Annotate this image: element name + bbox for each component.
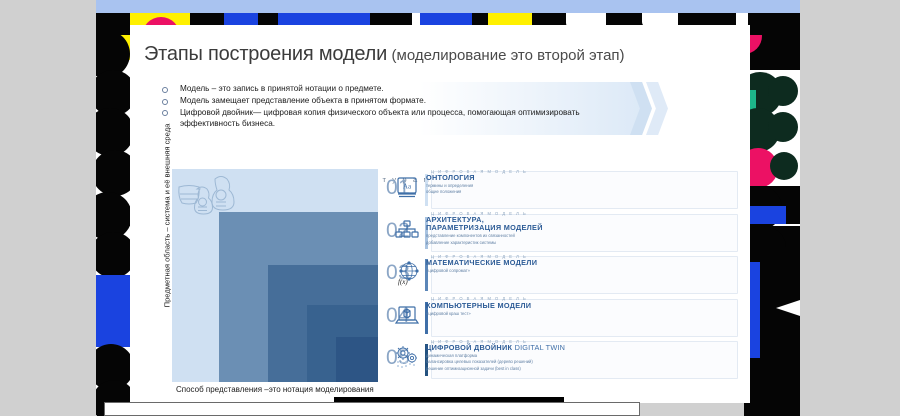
row-text: МАТЕМАТИЧЕСКИЕ МОДЕЛИ «цифровой сопромат… bbox=[426, 258, 734, 273]
row-title: ЦИФРОВОЙ ДВОЙНИК DIGITAL TWIN bbox=[426, 343, 734, 352]
decorative-pattern-left bbox=[96, 0, 130, 416]
nested-squares-figure bbox=[172, 169, 378, 382]
model-level-row-03[interactable]: 03 Ц И Ф Р О В А Я М О Д Е Л Ь f(x) bbox=[386, 254, 738, 297]
figure-caption: Способ представления –это нотация модели… bbox=[176, 385, 374, 394]
row-subtitle-2: общие положения bbox=[426, 189, 734, 194]
row-title-en: DIGITAL TWIN bbox=[515, 343, 566, 352]
row-title-line2: ПАРАМЕТРИЗАЦИЯ МОДЕЛЕЙ bbox=[426, 224, 734, 232]
list-item: Цифровой двойник— цифровая копия физичес… bbox=[156, 107, 606, 130]
row-text: АРХИТЕКТУРА, ПАРАМЕТРИЗАЦИЯ МОДЕЛЕЙ пред… bbox=[426, 216, 734, 246]
model-level-row-05[interactable]: 05 Ц И Ф Р О В А Я М О Д Е Л Ь bbox=[386, 339, 738, 382]
row-title: МАТЕМАТИЧЕСКИЕ МОДЕЛИ bbox=[426, 258, 734, 267]
screen: Этапы построения модели (моделирование э… bbox=[0, 0, 900, 416]
row-title: КОМПЬЮТЕРНЫЕ МОДЕЛИ bbox=[426, 301, 734, 310]
row-subtitle-1: «цифровой сопромат» bbox=[426, 268, 734, 273]
bullet-list: Модель – это запись в принятой нотации о… bbox=[156, 83, 606, 130]
model-level-row-01[interactable]: 01 Ц И Ф Р О В А Я М О Д Е Л Ь Aa ОНТОЛО… bbox=[386, 169, 738, 212]
row-title: ОНТОЛОГИЯ bbox=[426, 173, 734, 182]
bottom-panel bbox=[104, 402, 640, 416]
book-aa-icon: Aa bbox=[394, 175, 420, 201]
list-item: Модель – это запись в принятой нотации о… bbox=[156, 83, 606, 94]
top-ribbon bbox=[96, 0, 800, 13]
svg-text:f(x): f(x) bbox=[398, 278, 408, 286]
row-subtitle-1: динамическая платформа bbox=[426, 353, 734, 358]
vertical-axis-label: Предметная область – система и её внешня… bbox=[163, 100, 172, 332]
slide-canvas: Этапы построения модели (моделирование э… bbox=[130, 25, 750, 403]
model-level-row-04[interactable]: 04 Ц И Ф Р О В А Я М О Д Е Л Ь КОМПЬЮТЕР… bbox=[386, 297, 738, 340]
model-level-row-02[interactable]: 02 Ц И Ф Р О В А Я М О Д Е Л Ь АРХИТЕКТУ… bbox=[386, 212, 738, 255]
row-subtitle-2: балансировка целевых показателей (дерево… bbox=[426, 359, 734, 364]
title-main: Этапы построения модели bbox=[144, 43, 387, 65]
model-levels-list: 01 Ц И Ф Р О В А Я М О Д Е Л Ь Aa ОНТОЛО… bbox=[386, 169, 738, 382]
decorative-pattern-right bbox=[744, 0, 800, 416]
row-subtitle-3: решение оптимизационной задачи (best in … bbox=[426, 366, 734, 371]
list-item: Модель замещает представление объекта в … bbox=[156, 95, 606, 106]
slide-title: Этапы построения модели (моделирование э… bbox=[144, 43, 625, 66]
title-subtitle: (моделирование это второй этап) bbox=[392, 47, 625, 64]
laptop-cube-icon bbox=[394, 303, 420, 329]
row-subtitle-1: термины и определения bbox=[426, 183, 734, 188]
row-subtitle-1: представление компонентов их связанносте… bbox=[426, 233, 734, 238]
row-subtitle-1: «цифровой краш тест» bbox=[426, 311, 734, 316]
row-title-ru: ЦИФРОВОЙ ДВОЙНИК bbox=[426, 343, 512, 352]
row-text: ЦИФРОВОЙ ДВОЙНИК DIGITAL TWIN динамическ… bbox=[426, 343, 734, 371]
nested-square-4 bbox=[336, 337, 378, 382]
hierarchy-tree-icon bbox=[394, 218, 420, 244]
row-text: ОНТОЛОГИЯ термины и определения общие по… bbox=[426, 173, 734, 195]
row-text: КОМПЬЮТЕРНЫЕ МОДЕЛИ «цифровой краш тест» bbox=[426, 301, 734, 316]
svg-text:Aa: Aa bbox=[403, 183, 412, 191]
gears-network-icon bbox=[394, 345, 420, 371]
row-subtitle-2: добавление характеристик системы bbox=[426, 240, 734, 245]
math-sphere-fx-icon: f(x) bbox=[394, 260, 420, 286]
matryoshka-dolls-icon bbox=[177, 173, 241, 217]
